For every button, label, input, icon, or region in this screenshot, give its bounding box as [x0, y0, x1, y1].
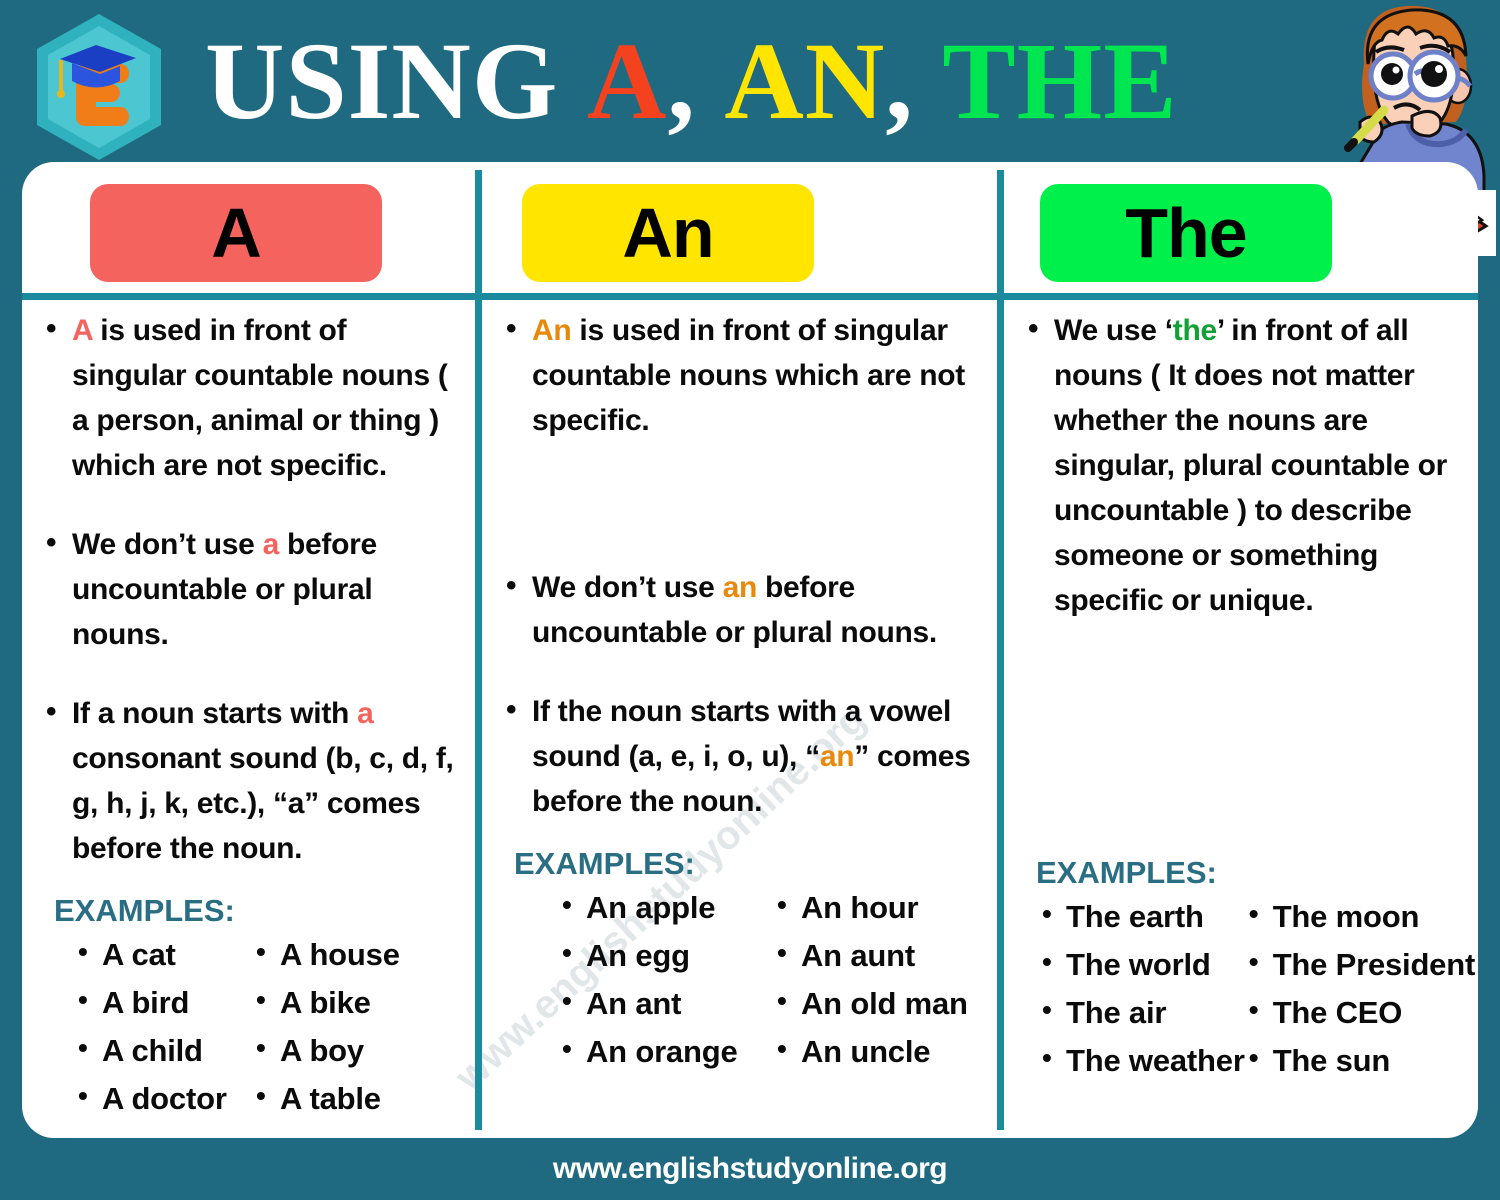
column-an-body: An is used in front of singular countabl… — [482, 308, 997, 1076]
list-item: An uncle — [773, 1028, 968, 1076]
list-item: A house — [252, 931, 400, 979]
column-a-body: A is used in front of singular countable… — [22, 308, 475, 1123]
rule-item: If a noun starts with a consonant sound … — [38, 691, 465, 871]
examples-left-an: An apple An egg An ant An orange — [558, 884, 773, 1076]
column-the: The We use ‘the’ in front of all nouns (… — [1004, 162, 1478, 1138]
examples-label: EXAMPLES: — [38, 893, 465, 929]
list-item: A doctor — [74, 1075, 252, 1123]
rule-text: ’ in front of all nouns ( It does not ma… — [1054, 314, 1447, 617]
column-a: A A is used in front of singular countab… — [22, 162, 475, 1138]
list-item: The earth — [1038, 893, 1245, 941]
examples-right-an: An hour An aunt An old man An uncle — [773, 884, 968, 1076]
list-item: The CEO — [1245, 989, 1475, 1037]
examples-label: EXAMPLES: — [1020, 855, 1468, 891]
list-item: The weather — [1038, 1037, 1245, 1085]
rule-text: We don’t use — [72, 528, 263, 561]
list-item: An old man — [773, 980, 968, 1028]
list-item: A bird — [74, 979, 252, 1027]
rule-highlight: the — [1173, 314, 1217, 347]
rule-text: is used in front of singular countable n… — [532, 314, 965, 437]
examples-right-a: A house A bike A boy A table — [252, 931, 400, 1123]
rule-item: We don’t use a before uncountable or plu… — [38, 522, 465, 657]
rule-item: If the noun starts with a vowel sound (a… — [498, 689, 987, 824]
list-item: A bike — [252, 979, 400, 1027]
title-word-using: USING — [205, 26, 558, 136]
rule-text: If a noun starts with — [72, 697, 357, 730]
list-item: A table — [252, 1075, 400, 1123]
list-item: An orange — [558, 1028, 773, 1076]
rule-highlight: An — [532, 314, 571, 347]
list-item: An ant — [558, 980, 773, 1028]
examples-grid-the: The earth The world The air The weather … — [1020, 893, 1468, 1085]
rule-item: A is used in front of singular countable… — [38, 308, 465, 488]
rule-text: We don’t use — [532, 571, 723, 604]
rule-highlight: an — [820, 740, 854, 773]
logo-svg — [20, 8, 178, 166]
list-item: An aunt — [773, 932, 968, 980]
list-item: A cat — [74, 931, 252, 979]
examples-grid-a: A cat A bird A child A doctor A house A … — [38, 931, 465, 1123]
rule-highlight: a — [357, 697, 373, 730]
rule-highlight: a — [263, 528, 279, 561]
rule-highlight: A — [72, 314, 92, 347]
column-divider-2 — [997, 170, 1004, 1130]
badge-a[interactable]: A — [90, 184, 382, 282]
column-an: An An is used in front of singular count… — [482, 162, 997, 1138]
examples-left-a: A cat A bird A child A doctor — [74, 931, 252, 1123]
badge-an[interactable]: An — [522, 184, 814, 282]
footer-bar: www.englishstudyonline.org — [0, 1138, 1500, 1200]
rule-item: An is used in front of singular countabl… — [498, 308, 987, 443]
header-bar: USING A , AN , THE — [0, 0, 1500, 172]
rules-list-a: A is used in front of singular countable… — [38, 308, 465, 871]
title-comma-1: , — [667, 26, 696, 136]
poster-root: USING A , AN , THE — [0, 0, 1500, 1200]
list-item: A boy — [252, 1027, 400, 1075]
examples-left-the: The earth The world The air The weather — [1038, 893, 1245, 1085]
list-item: The air — [1038, 989, 1245, 1037]
title-comma-2: , — [885, 26, 914, 136]
column-divider-1 — [475, 170, 482, 1130]
rule-text: is used in front of singular countable n… — [72, 314, 448, 482]
rule-text: consonant sound (b, c, d, f, g, h, j, k,… — [72, 742, 454, 865]
badge-a-wrap: A — [22, 178, 475, 288]
badge-the[interactable]: The — [1040, 184, 1332, 282]
rule-text: We use ‘ — [1054, 314, 1173, 347]
rule-item: We don’t use an before uncountable or pl… — [498, 565, 987, 655]
rules-list-an: An is used in front of singular countabl… — [498, 308, 987, 824]
graduation-cap-logo — [20, 8, 178, 166]
title-word-an: AN — [724, 26, 885, 136]
column-the-body: We use ‘the’ in front of all nouns ( It … — [1004, 308, 1478, 1085]
examples-label: EXAMPLES: — [498, 846, 987, 882]
examples-right-the: The moon The President The CEO The sun — [1245, 893, 1475, 1085]
list-item: The moon — [1245, 893, 1475, 941]
rule-highlight: an — [723, 571, 757, 604]
list-item: The President — [1245, 941, 1475, 989]
examples-grid-an: An apple An egg An ant An orange An hour… — [498, 884, 987, 1076]
content-card: www.englishstudyonline.org A A is used i… — [22, 162, 1478, 1138]
title-word-the: THE — [942, 26, 1177, 136]
title-word-a: A — [587, 26, 667, 136]
list-item: The world — [1038, 941, 1245, 989]
list-item: The sun — [1245, 1037, 1475, 1085]
rules-list-the: We use ‘the’ in front of all nouns ( It … — [1020, 308, 1468, 623]
page-title: USING A , AN , THE — [205, 6, 1178, 156]
list-item: An egg — [558, 932, 773, 980]
badge-the-wrap: The — [1004, 178, 1478, 288]
rule-item: We use ‘the’ in front of all nouns ( It … — [1020, 308, 1468, 623]
list-item: An hour — [773, 884, 968, 932]
badge-an-wrap: An — [482, 178, 997, 288]
list-item: An apple — [558, 884, 773, 932]
footer-url[interactable]: www.englishstudyonline.org — [553, 1152, 947, 1186]
list-item: A child — [74, 1027, 252, 1075]
